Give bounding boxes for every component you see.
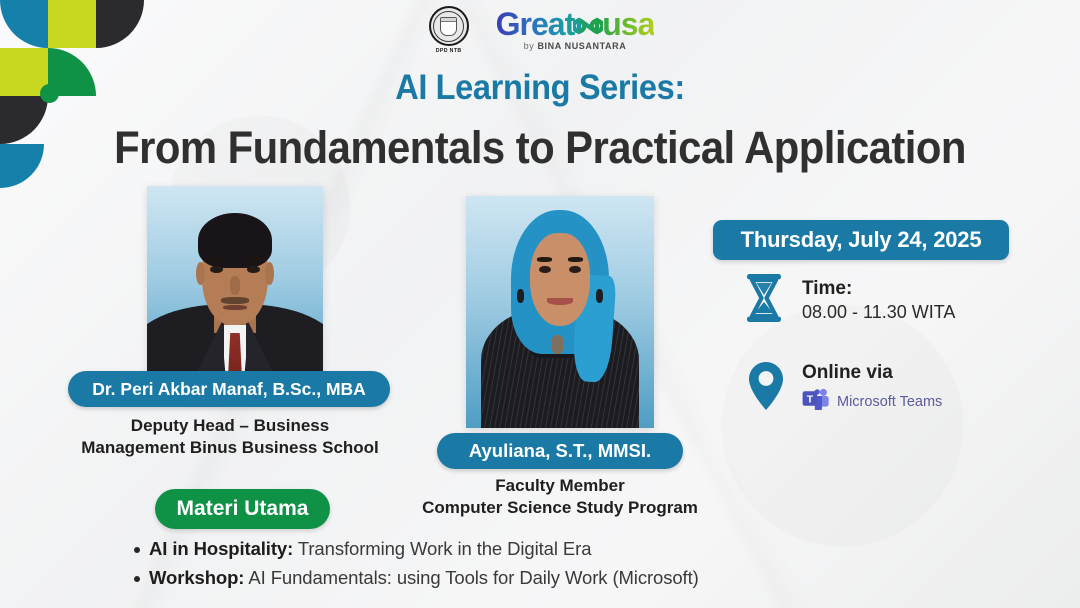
- speaker-photo-1: [147, 186, 323, 396]
- dpd-logo-caption: DPD NTB: [436, 48, 462, 54]
- speaker-1-role-line2: Management Binus Business School: [40, 437, 420, 459]
- tagline-text: BINA NUSANTARA: [537, 41, 626, 51]
- list-item: Workshop: AI Fundamentals: using Tools f…: [134, 567, 699, 589]
- microsoft-teams-icon: T: [802, 388, 830, 415]
- agenda-item-1-bold: AI in Hospitality:: [149, 538, 293, 559]
- infinity-n-icon: [573, 8, 603, 40]
- bullet-dot-icon: [134, 547, 140, 553]
- brand-name-part2: usa: [602, 8, 654, 40]
- title-line-1: AI Learning Series:: [38, 68, 1042, 108]
- bullet-dot-icon: [134, 576, 140, 582]
- agenda-item-1-rest: Transforming Work in the Digital Era: [293, 538, 591, 559]
- agenda-list: AI in Hospitality: Transforming Work in …: [134, 538, 699, 596]
- speaker-2-name-badge: Ayuliana, S.T., MMSI.: [437, 433, 683, 469]
- agenda-item-2: Workshop: AI Fundamentals: using Tools f…: [149, 567, 699, 589]
- event-location-row: Online via T Microsoft Teams: [746, 360, 942, 417]
- dpd-seal-icon: [429, 6, 469, 46]
- hourglass-icon: [742, 272, 786, 329]
- list-item: AI in Hospitality: Transforming Work in …: [134, 538, 699, 560]
- time-text-group: Time: 08.00 - 11.30 WITA: [802, 278, 955, 323]
- time-label: Time:: [802, 278, 955, 300]
- tagline-prefix: by: [524, 41, 538, 51]
- location-pin-icon: [746, 360, 786, 417]
- agenda-item-1: AI in Hospitality: Transforming Work in …: [149, 538, 591, 560]
- speaker-1-name: Dr. Peri Akbar Manaf, B.Sc., MBA: [92, 379, 366, 400]
- agenda-item-2-rest: AI Fundamentals: using Tools for Daily W…: [244, 567, 698, 588]
- title-line-2: From Fundamentals to Practical Applicati…: [38, 122, 1042, 174]
- speaker-1-role: Deputy Head – Business Management Binus …: [40, 415, 420, 459]
- speaker-2-role-line2: Computer Science Study Program: [400, 497, 720, 519]
- agenda-heading: Materi Utama: [177, 497, 309, 521]
- agenda-item-2-bold: Workshop:: [149, 567, 244, 588]
- brand-tagline: by BINA NUSANTARA: [524, 41, 627, 51]
- microsoft-teams-label: Microsoft Teams: [837, 394, 942, 410]
- speaker-2-role-line1: Faculty Member: [400, 475, 720, 497]
- location-text-group: Online via T Microsoft Teams: [802, 362, 942, 415]
- greatnusa-logo: Great usa by BINA NUSANTARA: [496, 8, 655, 51]
- dpd-ntb-logo: DPD NTB: [426, 6, 472, 54]
- time-value: 08.00 - 11.30 WITA: [802, 302, 955, 323]
- location-label: Online via: [802, 362, 942, 384]
- svg-text:T: T: [807, 393, 814, 405]
- shield-icon: [440, 17, 457, 36]
- brand-name-part1: Great: [496, 8, 575, 40]
- microsoft-teams-badge: T Microsoft Teams: [802, 388, 942, 415]
- speaker-photo-2: [466, 196, 654, 428]
- event-date-badge: Thursday, July 24, 2025: [713, 220, 1009, 260]
- event-date: Thursday, July 24, 2025: [741, 227, 982, 253]
- poster-canvas: DPD NTB Great usa by BINA NUSANTARA: [0, 0, 1080, 608]
- agenda-heading-badge: Materi Utama: [155, 489, 330, 529]
- greatnusa-wordmark: Great usa: [496, 8, 655, 40]
- speaker-1-name-badge: Dr. Peri Akbar Manaf, B.Sc., MBA: [68, 371, 390, 407]
- event-time-row: Time: 08.00 - 11.30 WITA: [742, 272, 955, 329]
- speaker-1-role-line1: Deputy Head – Business: [40, 415, 420, 437]
- speaker-2-name: Ayuliana, S.T., MMSI.: [469, 440, 651, 462]
- header-logos: DPD NTB Great usa by BINA NUSANTARA: [0, 6, 1080, 54]
- speaker-2-role: Faculty Member Computer Science Study Pr…: [400, 475, 720, 519]
